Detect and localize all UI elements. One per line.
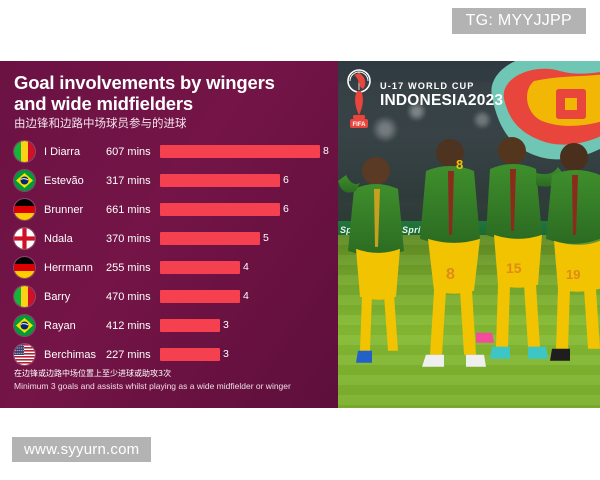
player-name: Rayan xyxy=(44,320,106,332)
table-row: Berchimas227 mins3 xyxy=(14,340,328,369)
event-title-text: U-17 WORLD CUP INDONESIA2023 xyxy=(380,69,503,109)
flag-icon-br xyxy=(14,170,35,191)
minutes-played: 661 mins xyxy=(106,204,160,216)
flag-icon-us xyxy=(14,344,35,365)
bar-track: 4 xyxy=(160,282,328,311)
minutes-played: 470 mins xyxy=(106,291,160,303)
svg-text:8: 8 xyxy=(456,157,463,172)
table-row: Herrmann255 mins4 xyxy=(14,253,328,282)
bar-chart-rows: I Diarra607 mins8Estevão317 mins6Brunner… xyxy=(14,137,328,369)
fifa-trophy-icon: FIFA xyxy=(344,69,374,131)
bar-value-label: 4 xyxy=(243,262,249,273)
bar-value-label: 8 xyxy=(323,146,329,157)
chart-subtitle: 由边锋和边路中场球员参与的进球 xyxy=(14,117,328,131)
bar-track: 5 xyxy=(160,224,328,253)
fifa-logo-lockup: FIFA U-17 WORLD CUP INDONESIA2023 xyxy=(344,69,503,131)
flag-icon-de xyxy=(14,257,35,278)
bar-track: 6 xyxy=(160,195,328,224)
minutes-played: 317 mins xyxy=(106,175,160,187)
infographic-card: Goal involvements by wingers and wide mi… xyxy=(0,61,600,408)
bar-value-label: 6 xyxy=(283,175,289,186)
table-row: I Diarra607 mins8 xyxy=(14,137,328,166)
footnote-chinese: 在边锋或边路中场位置上至少进球或助攻3次 xyxy=(14,369,324,380)
watermark-top-right: TG: MYYJJPP xyxy=(452,8,586,34)
bar-value-label: 4 xyxy=(243,291,249,302)
player-name: Estevão xyxy=(44,175,106,187)
table-row: Rayan412 mins3 xyxy=(14,311,328,340)
bar xyxy=(160,145,320,158)
bar xyxy=(160,203,280,216)
svg-text:8: 8 xyxy=(446,266,455,283)
player-name: Brunner xyxy=(44,204,106,216)
bar-value-label: 6 xyxy=(283,204,289,215)
table-row: Ndala370 mins5 xyxy=(14,224,328,253)
bar-value-label: 3 xyxy=(223,320,229,331)
bar-track: 8 xyxy=(160,137,329,166)
event-host-label: INDONESIA xyxy=(380,92,468,109)
footnote-english: Minimum 3 goals and assists whilst playi… xyxy=(14,381,324,392)
flag-icon-br xyxy=(14,315,35,336)
player-name: Herrmann xyxy=(44,262,106,274)
bar-track: 3 xyxy=(160,340,328,369)
bar-track: 3 xyxy=(160,311,328,340)
bar-value-label: 3 xyxy=(223,349,229,360)
player-name: I Diarra xyxy=(44,146,106,158)
bar xyxy=(160,290,240,303)
bar xyxy=(160,174,280,187)
flag-icon-ml xyxy=(14,286,35,307)
bar xyxy=(160,232,260,245)
minutes-played: 607 mins xyxy=(106,146,160,158)
chart-footnote: 在边锋或边路中场位置上至少进球或助攻3次 Minimum 3 goals and… xyxy=(14,369,324,392)
title-block: Goal involvements by wingers and wide mi… xyxy=(14,73,328,131)
event-year-label: 2023 xyxy=(468,92,503,109)
chart-panel: Goal involvements by wingers and wide mi… xyxy=(0,61,338,408)
bar xyxy=(160,348,220,361)
svg-text:19: 19 xyxy=(566,267,580,282)
svg-text:15: 15 xyxy=(506,260,522,276)
player-name: Ndala xyxy=(44,233,106,245)
photo-panel: Sprite Sprite F xyxy=(338,61,600,408)
title-line-2: and wide midfielders xyxy=(14,94,328,115)
player-name: Berchimas xyxy=(44,349,106,361)
flag-icon-en xyxy=(14,228,35,249)
watermark-bottom-left: www.syyurn.com xyxy=(12,437,151,462)
bar xyxy=(160,261,240,274)
table-row: Brunner661 mins6 xyxy=(14,195,328,224)
event-competition-label: U-17 WORLD CUP xyxy=(380,82,503,91)
flag-icon-de xyxy=(14,199,35,220)
minutes-played: 370 mins xyxy=(106,233,160,245)
players-celebration-photo: 8 8 15 xyxy=(338,137,600,408)
table-row: Barry470 mins4 xyxy=(14,282,328,311)
bar-track: 6 xyxy=(160,166,328,195)
minutes-played: 412 mins xyxy=(106,320,160,332)
bar-value-label: 5 xyxy=(263,233,269,244)
minutes-played: 227 mins xyxy=(106,349,160,361)
svg-text:FIFA: FIFA xyxy=(353,122,367,128)
event-host-year-label: INDONESIA2023 xyxy=(380,93,503,109)
page-title: Goal involvements by wingers and wide mi… xyxy=(14,73,328,114)
bar-track: 4 xyxy=(160,253,328,282)
bar xyxy=(160,319,220,332)
table-row: Estevão317 mins6 xyxy=(14,166,328,195)
title-line-1: Goal involvements by wingers xyxy=(14,73,328,94)
player-name: Barry xyxy=(44,291,106,303)
minutes-played: 255 mins xyxy=(106,262,160,274)
flag-icon-ml xyxy=(14,141,35,162)
